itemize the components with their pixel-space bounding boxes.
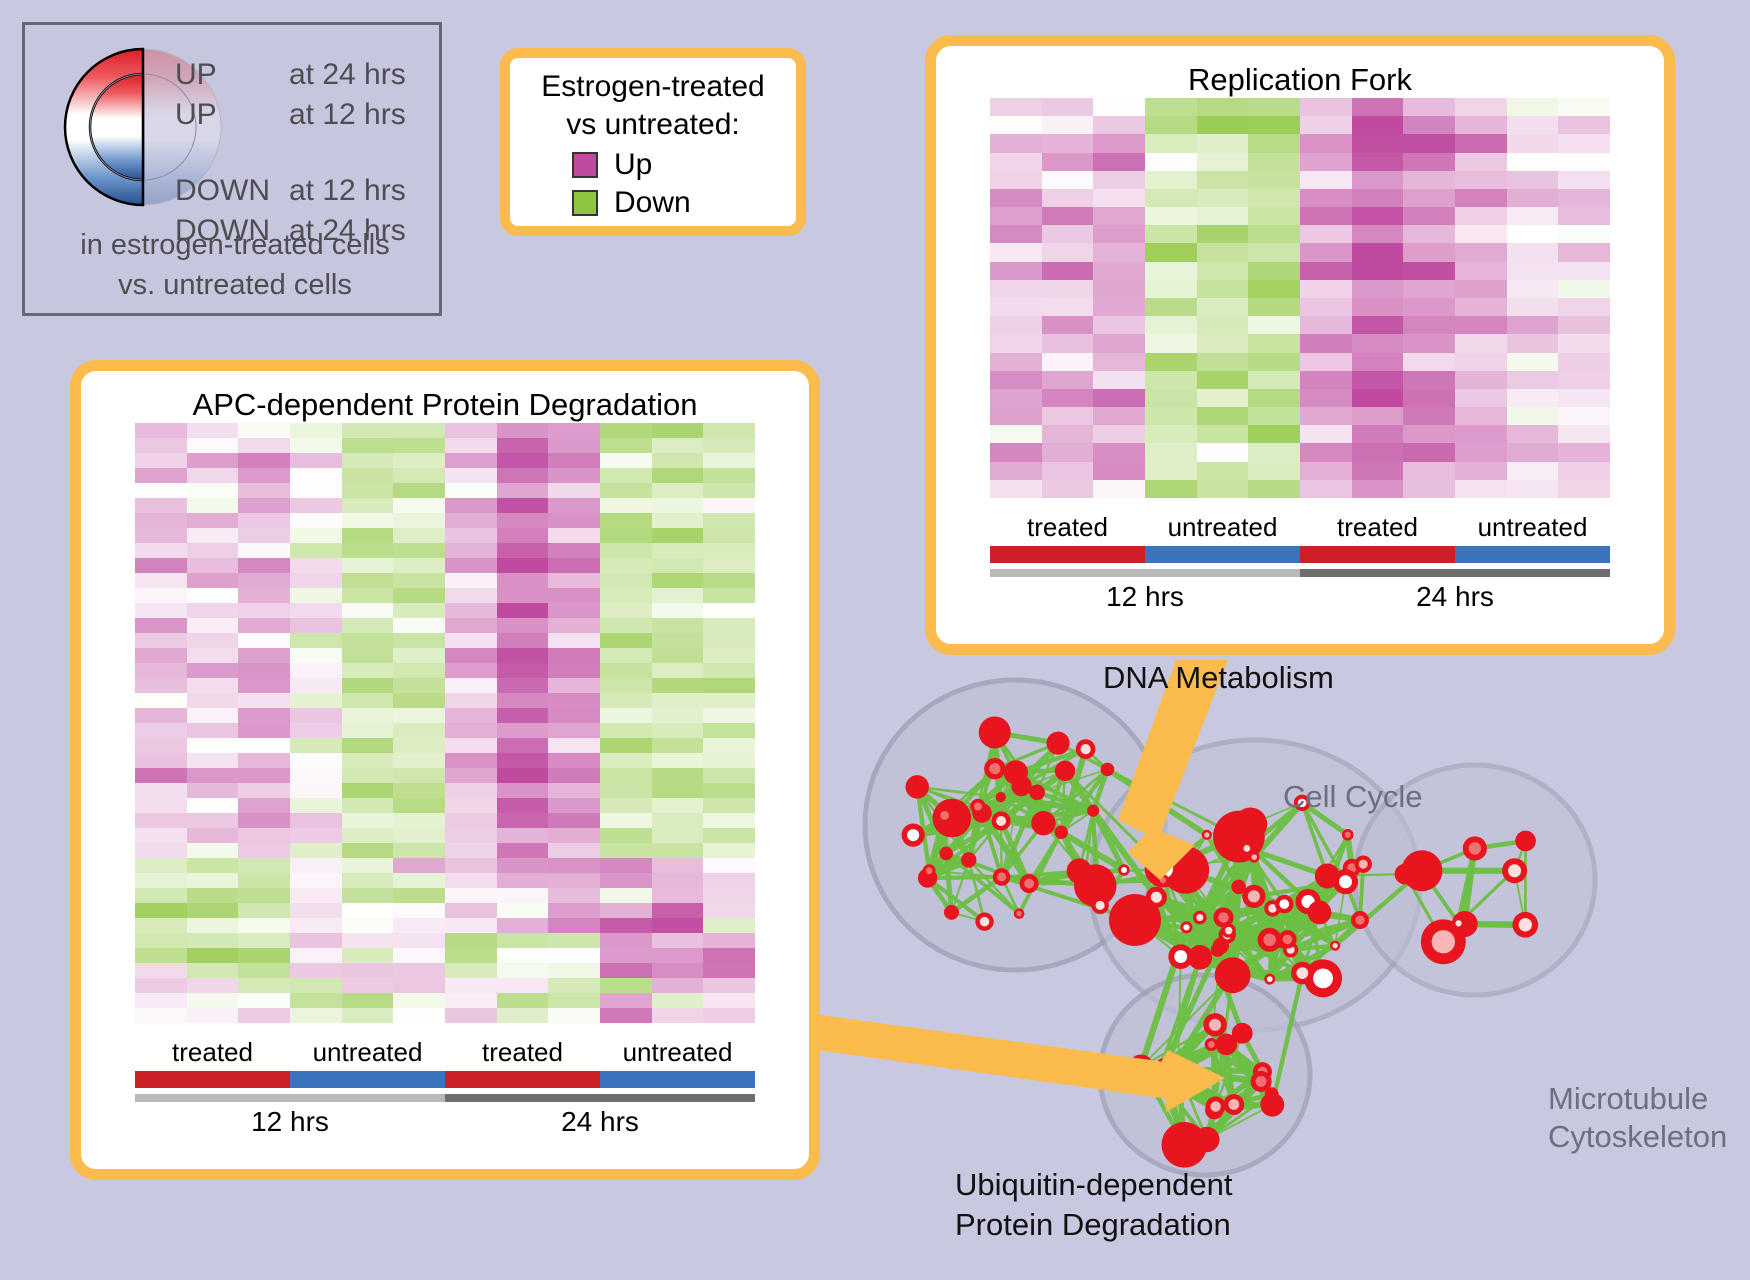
- heatmap-cell: [548, 573, 600, 588]
- heatmap-cell: [238, 453, 290, 468]
- heatmap-cell: [342, 753, 394, 768]
- network-node[interactable]: [1231, 880, 1245, 894]
- heatmap-cell: [600, 858, 652, 873]
- heatmap-cell: [548, 693, 600, 708]
- network-node[interactable]: [1330, 941, 1340, 951]
- heatmap-cell: [238, 573, 290, 588]
- heatmap-cell: [1197, 243, 1249, 261]
- heatmap-cell: [1403, 425, 1455, 443]
- heatmap-cell: [393, 843, 445, 858]
- network-node[interactable]: [1515, 831, 1536, 852]
- heatmap-cell: [445, 603, 497, 618]
- node-outer-ring: [1515, 831, 1536, 852]
- heatmap-cell: [238, 843, 290, 858]
- heatmap-cell: [187, 798, 239, 813]
- sample-label-3: untreated: [600, 1037, 755, 1068]
- heatmap-cell: [652, 453, 704, 468]
- network-node[interactable]: [939, 847, 953, 861]
- network-node[interactable]: [1260, 1093, 1284, 1117]
- network-node[interactable]: [1223, 1094, 1244, 1115]
- network-node[interactable]: [1512, 912, 1538, 938]
- heatmap-cell: [1455, 443, 1507, 461]
- heatmap-cell: [497, 558, 549, 573]
- heatmap-cell: [238, 933, 290, 948]
- heatmap-cell: [1352, 425, 1404, 443]
- heatmap-cell: [238, 648, 290, 663]
- heatmap-cell: [497, 723, 549, 738]
- network-node[interactable]: [1291, 962, 1314, 985]
- heatmap-cell: [445, 798, 497, 813]
- network-node[interactable]: [1087, 805, 1099, 817]
- network-node[interactable]: [1101, 763, 1115, 777]
- network-node[interactable]: [1264, 974, 1275, 985]
- network-node[interactable]: [1308, 901, 1332, 925]
- heatmap-cell: [652, 963, 704, 978]
- heatmap-cell: [990, 98, 1042, 116]
- heatmap-cell: [1403, 207, 1455, 225]
- network-node[interactable]: [1206, 1096, 1226, 1116]
- heatmap-cell: [445, 783, 497, 798]
- heatmap-cell: [548, 588, 600, 603]
- network-node[interactable]: [1453, 917, 1465, 929]
- network-node[interactable]: [1014, 908, 1025, 919]
- node-outer-ring: [961, 852, 976, 867]
- cluster-label-cell-cycle: Cell Cycle: [1283, 779, 1423, 815]
- heatmap-cell: [1455, 280, 1507, 298]
- heatmap-cell: [600, 558, 652, 573]
- heatmap-cell: [342, 873, 394, 888]
- node-inner-fill: [1332, 943, 1337, 948]
- heatmap-cell: [187, 438, 239, 453]
- heatmap-cell: [652, 558, 704, 573]
- network-node[interactable]: [1249, 852, 1260, 863]
- heatmap-cell: [135, 963, 187, 978]
- network-node[interactable]: [993, 868, 1011, 886]
- network-node[interactable]: [1031, 811, 1055, 835]
- heatmap-cell: [497, 768, 549, 783]
- heatmap-cell: [1300, 225, 1352, 243]
- network-node[interactable]: [944, 905, 959, 920]
- heatmap-cell: [1507, 189, 1559, 207]
- heatmap-cell: [703, 528, 755, 543]
- heatmap-cell: [135, 723, 187, 738]
- network-node[interactable]: [1258, 928, 1282, 952]
- heatmap-cell: [1455, 116, 1507, 134]
- heatmap-cell: [445, 873, 497, 888]
- heatmap-cell: [135, 498, 187, 513]
- node-inner-fill: [1251, 854, 1257, 860]
- heatmap-cell: [187, 498, 239, 513]
- network-node[interactable]: [936, 807, 953, 824]
- network-node[interactable]: [1355, 855, 1372, 872]
- heatmap-cell: [1455, 334, 1507, 352]
- network-node[interactable]: [1188, 945, 1213, 970]
- node-inner-fill: [1469, 842, 1482, 855]
- heatmap-cell: [1145, 462, 1197, 480]
- sample-bar-untreated-24: [600, 1071, 755, 1088]
- heatmap-cell: [990, 353, 1042, 371]
- heatmap-cell: [548, 543, 600, 558]
- network-node[interactable]: [1055, 761, 1075, 781]
- node-outer-ring: [1077, 866, 1093, 882]
- heatmap-cell: [600, 978, 652, 993]
- heatmap-cell: [1352, 316, 1404, 334]
- heatmap-cell: [290, 783, 342, 798]
- heatmap-cell: [652, 543, 704, 558]
- node-inner-fill: [1359, 860, 1368, 869]
- heatmap-cell: [600, 678, 652, 693]
- network-node[interactable]: [1351, 911, 1369, 929]
- heatmap-cell: [548, 843, 600, 858]
- network-node[interactable]: [1251, 1071, 1272, 1092]
- heatmap-cell: [1507, 371, 1559, 389]
- heatmap-cell: [445, 948, 497, 963]
- network-node[interactable]: [1216, 1034, 1237, 1055]
- heatmap-cell: [990, 462, 1042, 480]
- heatmap-cell: [1507, 407, 1559, 425]
- heatmap-cell: [135, 693, 187, 708]
- heatmap-cell: [238, 753, 290, 768]
- network-node[interactable]: [961, 852, 976, 867]
- heatmap-cell: [393, 1008, 445, 1023]
- network-node[interactable]: [1156, 1058, 1171, 1073]
- heatmap-cell: [1455, 298, 1507, 316]
- heatmap-cell: [1093, 243, 1145, 261]
- node-outer-ring: [1231, 880, 1245, 894]
- heatmap-cell: [290, 498, 342, 513]
- heatmap-cell: [342, 843, 394, 858]
- panel-replication-fork: Replication Fork treated untreated treat…: [925, 35, 1675, 655]
- network-node[interactable]: [1342, 829, 1354, 841]
- heatmap-cell: [290, 438, 342, 453]
- heatmap-cell: [652, 933, 704, 948]
- heatmap-cell: [1558, 462, 1610, 480]
- sample-label-2: treated: [1300, 512, 1455, 543]
- network-node[interactable]: [1211, 943, 1225, 957]
- network-node[interactable]: [1118, 864, 1129, 875]
- heatmap-cell: [1507, 316, 1559, 334]
- network-node[interactable]: [1054, 826, 1067, 839]
- heatmap-cell: [703, 798, 755, 813]
- heatmap-cell: [445, 648, 497, 663]
- heatmap-cell: [1145, 298, 1197, 316]
- heatmap-cell: [1507, 298, 1559, 316]
- network-node[interactable]: [1047, 732, 1070, 755]
- network-node[interactable]: [1275, 895, 1294, 914]
- heatmap-cell: [238, 1008, 290, 1023]
- heatmap-cell: [652, 873, 704, 888]
- heatmap-cell: [703, 543, 755, 558]
- colorwheel-legend-box: UPat 24 hrs UPat 12 hrs DOWNat 12 hrs DO…: [22, 22, 442, 316]
- heatmap-cell: [290, 648, 342, 663]
- node-inner-fill: [1313, 968, 1333, 988]
- heatmap-cell: [393, 933, 445, 948]
- heatmap-cell: [135, 513, 187, 528]
- heatmap-cell: [1042, 425, 1094, 443]
- network-node[interactable]: [905, 775, 928, 798]
- network-node[interactable]: [1224, 959, 1244, 979]
- heatmap-cell: [652, 723, 704, 738]
- network-node[interactable]: [1395, 864, 1416, 885]
- network-node[interactable]: [1109, 894, 1161, 946]
- timepoint-label-24hrs: 24 hrs: [1300, 577, 1610, 613]
- heatmap-cell: [703, 768, 755, 783]
- heatmap-cell: [342, 693, 394, 708]
- heatmap-cell: [1197, 407, 1249, 425]
- heatmap-cell: [1507, 262, 1559, 280]
- heatmap-cell: [1248, 153, 1300, 171]
- node-inner-fill: [1218, 912, 1228, 922]
- heatmap-cell: [1455, 425, 1507, 443]
- sample-bar-treated-12: [135, 1071, 290, 1088]
- heatmap-cell: [135, 468, 187, 483]
- heatmap-cell: [1093, 334, 1145, 352]
- heatmap-cell: [1145, 353, 1197, 371]
- heatmap-cell: [652, 993, 704, 1008]
- network-node[interactable]: [1020, 874, 1039, 893]
- heatmap-cell: [290, 843, 342, 858]
- node-inner-fill: [1519, 918, 1532, 931]
- heatmap-cell: [600, 798, 652, 813]
- heatmap-cell: [497, 528, 549, 543]
- heatmap-cell: [1197, 316, 1249, 334]
- node-inner-fill: [1243, 845, 1250, 852]
- timepoint-bar-12hrs: [135, 1094, 445, 1102]
- heatmap-cell: [497, 978, 549, 993]
- heatmap-cell: [1300, 243, 1352, 261]
- heatmap-cell: [1093, 171, 1145, 189]
- heatmap-cell: [652, 513, 704, 528]
- heatmap-cell: [238, 618, 290, 633]
- heatmap-cell: [342, 948, 394, 963]
- network-node[interactable]: [1091, 897, 1108, 914]
- network-node[interactable]: [996, 792, 1006, 802]
- heatmap-cell: [342, 963, 394, 978]
- cluster-label-dna-metabolism: DNA Metabolism: [1103, 660, 1334, 696]
- heatmap-cell: [1093, 462, 1145, 480]
- network-node[interactable]: [1194, 1127, 1219, 1152]
- heatmap-cell: [445, 633, 497, 648]
- heatmap-cell: [238, 558, 290, 573]
- heatmap-cell: [445, 753, 497, 768]
- heatmap-cell: [1042, 334, 1094, 352]
- network-node[interactable]: [1029, 785, 1045, 801]
- node-inner-fill: [1080, 744, 1090, 754]
- heatmap-cell: [497, 603, 549, 618]
- heatmap-cell: [445, 843, 497, 858]
- heatmap-cell: [703, 723, 755, 738]
- sample-bar-treated-12: [990, 546, 1145, 563]
- sample-bar-untreated-12: [1145, 546, 1300, 563]
- heatmap-cell: [548, 798, 600, 813]
- node-inner-fill: [1355, 915, 1364, 924]
- heatmap-cell: [703, 648, 755, 663]
- heatmap-cell: [1248, 389, 1300, 407]
- heatmap-cell: [1300, 189, 1352, 207]
- heatmap-cell: [393, 978, 445, 993]
- heatmap-cell: [1145, 334, 1197, 352]
- heatmap-cell: [652, 738, 704, 753]
- heatmap-cell: [135, 843, 187, 858]
- heatmap-cell: [135, 708, 187, 723]
- node-inner-fill: [926, 867, 933, 874]
- heatmap-cell: [135, 453, 187, 468]
- heatmap-cell: [445, 723, 497, 738]
- heatmap-cell: [1093, 153, 1145, 171]
- colorwheel-key-0: UP: [175, 55, 289, 95]
- heatmap-cell: [393, 858, 445, 873]
- heatmap-cell: [445, 1008, 497, 1023]
- heatmap-cell: [135, 888, 187, 903]
- network-node[interactable]: [992, 811, 1011, 830]
- heatmap-cell: [1197, 353, 1249, 371]
- heatmap-cell: [548, 648, 600, 663]
- heatmap-cell: [393, 618, 445, 633]
- network-node[interactable]: [923, 864, 936, 877]
- heatmap-cell: [238, 678, 290, 693]
- heatmap-cell: [1300, 98, 1352, 116]
- heatmap-cell: [342, 978, 394, 993]
- heatmap-cell: [290, 978, 342, 993]
- heatmap-cell: [187, 618, 239, 633]
- network-edge: [928, 877, 1002, 878]
- heatmap-cell: [497, 798, 549, 813]
- heatmap-cell: [187, 783, 239, 798]
- network-node[interactable]: [1180, 921, 1192, 933]
- sample-label-3: untreated: [1455, 512, 1610, 543]
- heatmap-cell: [1403, 371, 1455, 389]
- heatmap-cell: [1558, 389, 1610, 407]
- heatmap-cell: [1558, 425, 1610, 443]
- heatmap-cell: [652, 753, 704, 768]
- network-node[interactable]: [1004, 760, 1028, 784]
- node-inner-fill: [940, 811, 949, 820]
- node-inner-fill: [997, 872, 1006, 881]
- node-inner-fill: [1121, 867, 1127, 873]
- heatmap-cell: [135, 438, 187, 453]
- heatmap-cell: [445, 738, 497, 753]
- heatmap-cell: [1558, 443, 1610, 461]
- network-node[interactable]: [1213, 907, 1233, 927]
- heatmap-cell: [703, 438, 755, 453]
- heatmap-cell: [238, 858, 290, 873]
- heatmap-cell: [1507, 153, 1559, 171]
- heatmap-cell: [187, 633, 239, 648]
- network-node[interactable]: [1077, 866, 1093, 882]
- heatmap-cell: [393, 753, 445, 768]
- heatmap-cell: [497, 828, 549, 843]
- heatmap-cell: [600, 573, 652, 588]
- heatmap-cell: [1093, 262, 1145, 280]
- network-node[interactable]: [1076, 739, 1096, 759]
- heatmap-cell: [1197, 98, 1249, 116]
- network-node[interactable]: [984, 758, 1005, 779]
- heatmap-cell: [445, 768, 497, 783]
- heatmap-cell: [445, 663, 497, 678]
- network-node[interactable]: [1202, 830, 1212, 840]
- node-outer-ring: [1188, 945, 1213, 970]
- sample-bar-treated-24: [1300, 546, 1455, 563]
- heatmap-cell: [135, 633, 187, 648]
- heatmap-cell: [1300, 407, 1352, 425]
- heatmap-cell: [445, 828, 497, 843]
- heatmap-cell: [342, 828, 394, 843]
- network-node[interactable]: [1502, 858, 1527, 883]
- heatmap-cell: [135, 528, 187, 543]
- network-node[interactable]: [1463, 836, 1487, 860]
- heatmap-cell: [290, 573, 342, 588]
- heatmap-cell: [703, 498, 755, 513]
- heatmap-cell: [1507, 353, 1559, 371]
- network-node[interactable]: [979, 716, 1011, 748]
- heatmap-cell: [548, 753, 600, 768]
- network-node[interactable]: [975, 912, 993, 930]
- heatmap-cell: [187, 528, 239, 543]
- heatmap-cell: [1042, 280, 1094, 298]
- network-node[interactable]: [970, 799, 986, 815]
- heatmap-cell: [1403, 116, 1455, 134]
- heatmap-cell: [135, 618, 187, 633]
- heatmap-cell: [1197, 298, 1249, 316]
- network-node[interactable]: [1129, 1054, 1154, 1079]
- timepoint-bar-24hrs: [445, 1094, 755, 1102]
- network-node[interactable]: [1203, 1013, 1226, 1036]
- heatmap-cell: [290, 723, 342, 738]
- heatmap-cell: [497, 858, 549, 873]
- heatmap-cell: [1455, 262, 1507, 280]
- heatmap-cell: [652, 708, 704, 723]
- heatmap-cell: [342, 588, 394, 603]
- heatmap-cell: [187, 663, 239, 678]
- heatmap-cell: [1352, 462, 1404, 480]
- heatmap-cell: [1300, 316, 1352, 334]
- heatmap-cell: [290, 453, 342, 468]
- heatmap-cell: [703, 633, 755, 648]
- legend-label-down: Down: [614, 186, 691, 220]
- heatmap-cell: [445, 498, 497, 513]
- heatmap-cell: [990, 262, 1042, 280]
- heatmap-cell: [1403, 353, 1455, 371]
- heatmap-cell: [1403, 225, 1455, 243]
- heatmap-cell: [600, 918, 652, 933]
- heatmap-cell: [187, 603, 239, 618]
- heatmap-cell: [445, 573, 497, 588]
- network-node[interactable]: [902, 824, 925, 847]
- heatmap-cell: [1042, 443, 1094, 461]
- heatmap-cell: [342, 498, 394, 513]
- heatmap-cell: [1558, 98, 1610, 116]
- heatmap-cell: [1093, 425, 1145, 443]
- heatmap-cell: [1455, 353, 1507, 371]
- network-node[interactable]: [1193, 911, 1207, 925]
- heatmap-cell: [238, 498, 290, 513]
- sample-bar-treated-24: [445, 1071, 600, 1088]
- heatmap-cell: [290, 1008, 342, 1023]
- heatmap-cell: [1248, 116, 1300, 134]
- node-outer-ring: [944, 905, 959, 920]
- heatmap-cell: [1248, 425, 1300, 443]
- heatmap-cell: [703, 468, 755, 483]
- heatmap-cell: [1042, 243, 1094, 261]
- node-inner-fill: [1208, 1041, 1215, 1048]
- heatmap-cell: [1507, 116, 1559, 134]
- network-node[interactable]: [1333, 869, 1358, 894]
- heatmap-cell: [1145, 280, 1197, 298]
- heatmap-cell: [600, 708, 652, 723]
- heatmap-cell: [342, 678, 394, 693]
- network-node[interactable]: [1157, 874, 1169, 886]
- heatmap-cell: [135, 588, 187, 603]
